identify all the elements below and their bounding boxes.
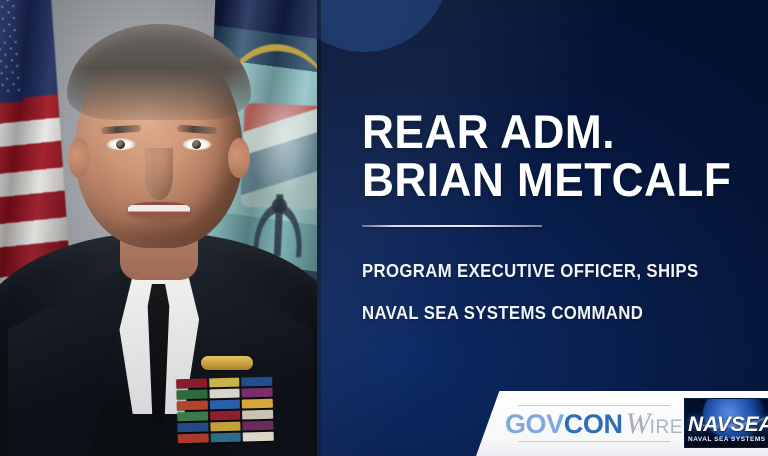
ear-left <box>68 138 90 178</box>
ribbon-bar <box>242 388 273 398</box>
ribbon-bar <box>242 399 273 409</box>
ribbon-bar <box>241 377 272 387</box>
ribbon-bar <box>176 378 207 388</box>
promo-graphic: REAR ADM. BRIAN METCALF PROGRAM EXECUTIV… <box>0 0 768 456</box>
ribbon-bar <box>177 411 208 421</box>
eye-left <box>106 138 136 150</box>
panel-sheen <box>317 0 768 456</box>
title-panel: REAR ADM. BRIAN METCALF PROGRAM EXECUTIV… <box>317 0 768 456</box>
officer-portrait-photo <box>0 0 317 456</box>
ribbon-bar <box>177 422 208 432</box>
officer-name-block: REAR ADM. BRIAN METCALF <box>362 108 752 204</box>
navsea-logo[interactable]: NAVSEA NAVAL SEA SYSTEMS COMMAND <box>684 398 768 448</box>
nose <box>145 148 173 200</box>
officer-rank-line: REAR ADM. <box>362 108 729 156</box>
govconwire-con-text: CON <box>564 411 623 438</box>
ribbon-bar <box>209 400 240 410</box>
ribbon-bar <box>242 410 273 420</box>
panel-left-edge <box>317 0 321 456</box>
ribbon-bar <box>177 400 208 410</box>
navsea-tagline: NAVAL SEA SYSTEMS COMMAND <box>688 436 768 443</box>
govconwire-logo[interactable]: GOVCONWIRE <box>518 404 670 442</box>
ribbon-bar <box>178 433 209 443</box>
ribbon-bar <box>176 389 207 399</box>
decorative-arc <box>317 0 449 52</box>
title-divider <box>362 225 542 227</box>
govconwire-ire-text: IRE <box>650 418 683 437</box>
officer-role-block: PROGRAM EXECUTIVE OFFICER, SHIPS NAVAL S… <box>362 250 752 334</box>
ribbon-bar <box>209 389 240 399</box>
officer-organization-line: NAVAL SEA SYSTEMS COMMAND <box>362 292 725 334</box>
navsea-wordmark: NAVSEA <box>688 413 768 437</box>
ribbon-bar <box>210 411 241 421</box>
head <box>75 34 243 248</box>
hair <box>67 24 251 120</box>
chin <box>121 220 197 246</box>
ribbon-bar <box>210 422 241 432</box>
eyebrow-left <box>100 125 140 135</box>
mouth <box>128 202 190 218</box>
ear-right <box>228 138 250 178</box>
officer-name-line: BRIAN METCALF <box>362 156 729 204</box>
ribbon-bar <box>210 433 241 443</box>
ribbon-rack <box>176 377 274 443</box>
officer-position-line: PROGRAM EXECUTIVE OFFICER, SHIPS <box>362 250 725 292</box>
govconwire-gov-text: GOV <box>505 411 564 438</box>
logo-rule-bottom <box>518 441 670 442</box>
ribbon-bar <box>209 378 240 388</box>
govconwire-w-text: W <box>626 409 650 439</box>
officer-figure <box>0 0 317 456</box>
eye-right <box>182 138 212 150</box>
govconwire-wordmark: GOVCONWIRE <box>518 406 670 441</box>
warfare-insignia-icon <box>201 356 253 370</box>
ribbon-bar <box>243 432 274 442</box>
eyebrow-right <box>176 125 216 135</box>
ribbon-bar <box>243 421 274 431</box>
